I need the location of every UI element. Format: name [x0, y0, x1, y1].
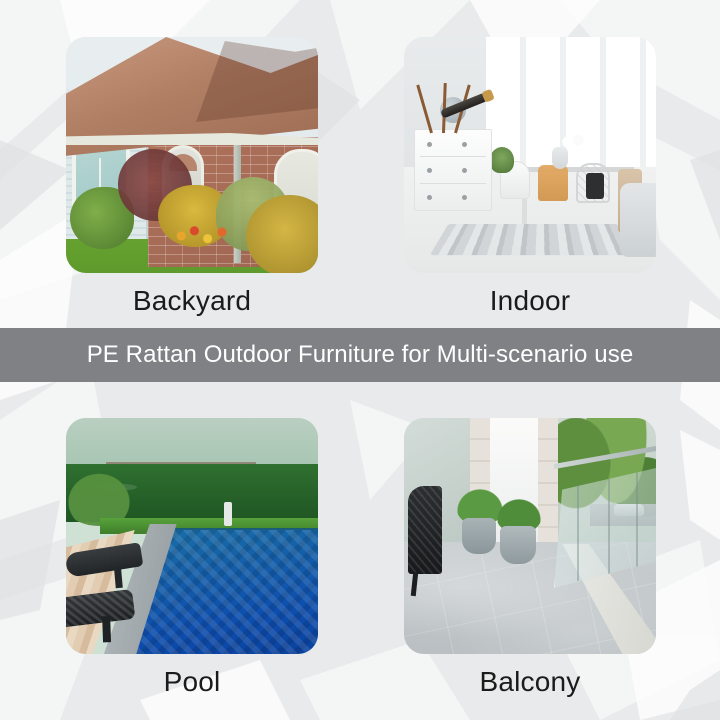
garden-post	[224, 502, 232, 526]
tile-indoor[interactable]: Indoor	[404, 37, 656, 273]
caption-backyard: Backyard	[26, 287, 358, 315]
railing-mullion	[636, 469, 638, 577]
drawer-knob	[462, 195, 467, 200]
headline-banner: PE Rattan Outdoor Furniture for Multi-sc…	[0, 328, 720, 382]
drawer-knob	[427, 168, 432, 173]
drawer-knob	[462, 168, 467, 173]
flower-bed	[174, 223, 234, 249]
photo-indoor[interactable]	[404, 37, 656, 273]
drawer-knob	[427, 195, 432, 200]
black-throw	[586, 173, 604, 199]
wooden-chair	[538, 165, 568, 201]
rattan-chair	[408, 486, 442, 574]
potted-plant	[490, 147, 514, 173]
railing-mullion	[577, 475, 579, 581]
dining-table-top	[514, 167, 634, 172]
white-dresser	[414, 129, 492, 211]
tile-pool[interactable]: Pool	[66, 418, 318, 654]
caption-balcony: Balcony	[364, 668, 696, 696]
collage-stage: Backyard	[0, 0, 720, 720]
caption-indoor: Indoor	[364, 287, 696, 315]
scene-pool	[66, 418, 318, 654]
white-flowers	[560, 133, 586, 151]
photo-backyard[interactable]	[66, 37, 318, 273]
scene-indoor	[404, 37, 656, 273]
sofa-edge	[620, 183, 656, 257]
tile-balcony[interactable]: Balcony	[404, 418, 656, 654]
drawer-knob	[427, 142, 432, 147]
plant-pot	[500, 526, 536, 564]
railing-mullion	[608, 472, 610, 580]
headline-text: PE Rattan Outdoor Furniture for Multi-sc…	[87, 343, 634, 367]
caption-pool: Pool	[26, 668, 358, 696]
plant-pot	[462, 518, 496, 554]
photo-balcony[interactable]	[404, 418, 656, 654]
photo-pool[interactable]	[66, 418, 318, 654]
tile-backyard[interactable]: Backyard	[66, 37, 318, 273]
scene-balcony	[404, 418, 656, 654]
telescope-tripod	[424, 79, 480, 133]
scene-backyard	[66, 37, 318, 273]
drawer-knob	[462, 142, 467, 147]
striped-rug	[430, 224, 636, 255]
